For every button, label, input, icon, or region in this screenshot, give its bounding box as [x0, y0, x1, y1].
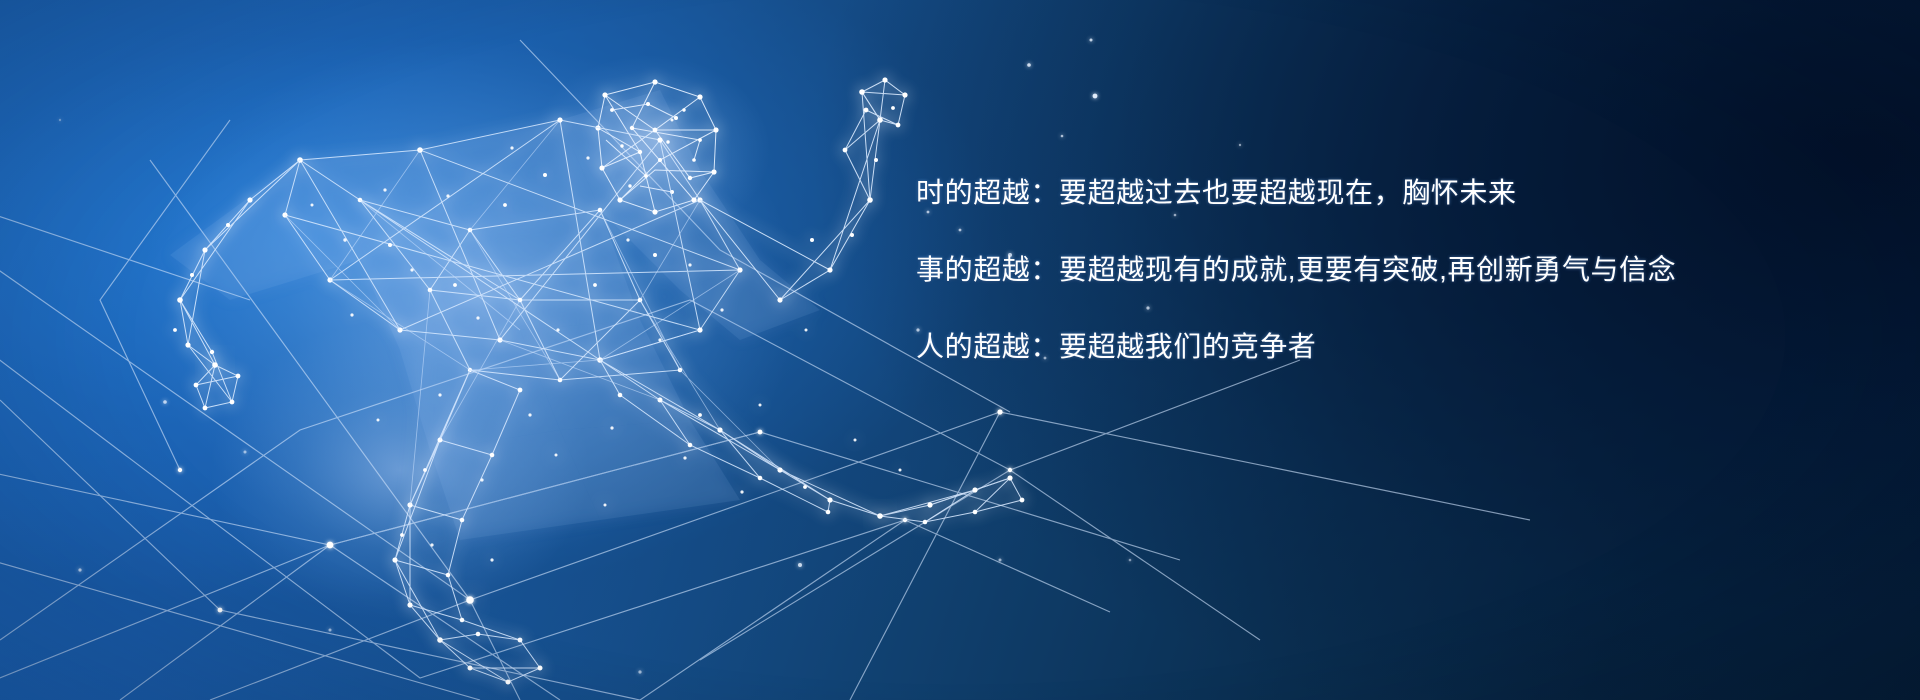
slogan-line-2: 事的超越：要超越现有的成就,更要有突破,再创新勇气与信念 [916, 255, 1816, 285]
slogan-text-block: 时的超越：要超越过去也要超越现在，胸怀未来 事的超越：要超越现有的成就,更要有突… [916, 178, 1816, 362]
hero-banner: 时的超越：要超越过去也要超越现在，胸怀未来 事的超越：要超越现有的成就,更要有突… [0, 0, 1920, 700]
slogan-line-3: 人的超越：要超越我们的竞争者 [916, 332, 1816, 362]
slogan-line-1: 时的超越：要超越过去也要超越现在，胸怀未来 [916, 178, 1816, 208]
